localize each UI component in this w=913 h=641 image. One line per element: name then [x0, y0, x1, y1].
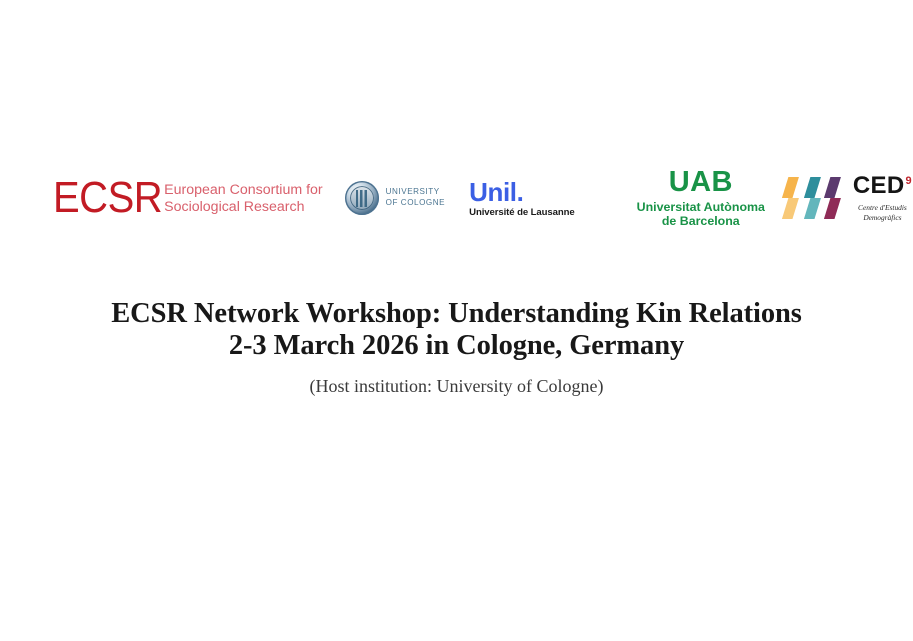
- university-of-cologne-wordmark: UNIVERSITY OF COLOGNE: [386, 187, 445, 208]
- unil-wordmark: Unil.: [469, 179, 523, 205]
- university-of-cologne-seal-icon: [345, 181, 379, 215]
- ced-wordmark-group: CED9 Centre d'Estudis Demogràfics: [853, 174, 912, 222]
- ced-subtitle-line2: Demogràfics: [863, 213, 901, 222]
- ced-subtitle-line1: Centre d'Estudis: [858, 203, 907, 212]
- ced-logo: CED9 Centre d'Estudis Demogràfics: [782, 174, 912, 222]
- unil-subtitle: Université de Lausanne: [469, 208, 575, 218]
- university-of-cologne-logo: UNIVERSITY OF COLOGNE: [345, 181, 445, 215]
- title-line-1: ECSR Network Workshop: Understanding Kin…: [0, 298, 913, 330]
- ced-subtitle: Centre d'Estudis Demogràfics: [858, 203, 907, 222]
- ecsr-tagline-line1: European Consortium for: [164, 182, 323, 198]
- title-line-2: 2-3 March 2026 in Cologne, Germany: [0, 330, 913, 362]
- cologne-line2: OF COLOGNE: [386, 198, 445, 207]
- page-subtitle: (Host institution: University of Cologne…: [0, 375, 913, 397]
- uab-subtitle-line1: Universitat Autònoma: [637, 200, 765, 214]
- ecsr-tagline: European Consortium for Sociological Res…: [164, 181, 323, 215]
- ced-superscript: 9: [906, 175, 912, 187]
- uab-wordmark: UAB: [669, 168, 733, 197]
- ecsr-wordmark: ECSR: [53, 176, 162, 219]
- ecsr-tagline-line2: Sociological Research: [164, 199, 304, 215]
- page-title: ECSR Network Workshop: Understanding Kin…: [0, 298, 913, 362]
- unil-logo: Unil. Université de Lausanne: [469, 179, 575, 218]
- ecsr-logo: ECSR European Consortium for Sociologica…: [53, 178, 323, 218]
- sponsor-logo-bar: ECSR European Consortium for Sociologica…: [0, 162, 913, 234]
- ced-mark-text: CED: [853, 172, 905, 199]
- uab-subtitle-line2: de Barcelona: [662, 214, 740, 228]
- cologne-line1: UNIVERSITY: [386, 187, 440, 196]
- ced-chevrons-icon: [782, 177, 844, 219]
- uab-subtitle: Universitat Autònoma de Barcelona: [637, 200, 765, 229]
- uab-logo: UAB Universitat Autònoma de Barcelona: [637, 168, 765, 229]
- ced-wordmark: CED9: [853, 174, 912, 198]
